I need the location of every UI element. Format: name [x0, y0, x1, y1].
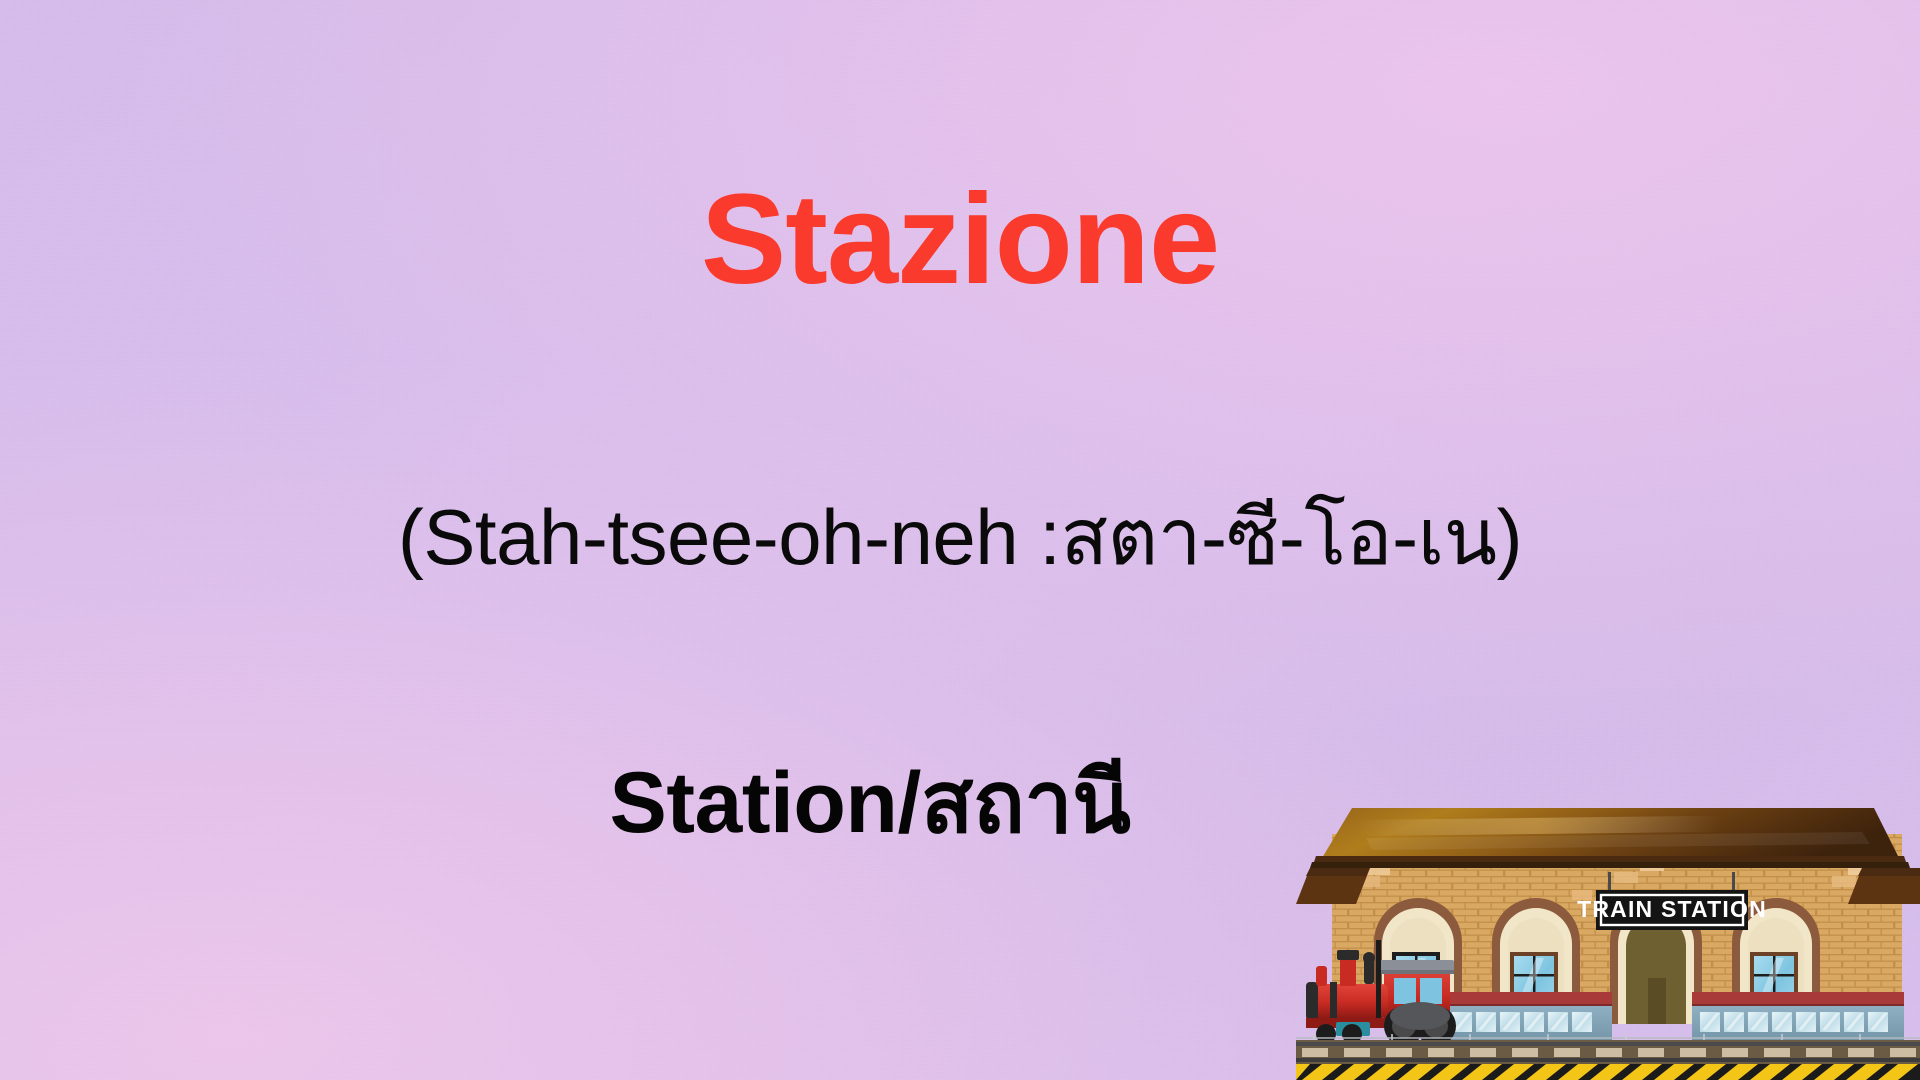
rail-bottom: [1296, 1058, 1920, 1062]
pronunciation-line: (Stah-tsee-oh-neh :สตา-ซี-โอ-เน): [0, 497, 1920, 579]
station-roof-eave-lip: [1310, 862, 1910, 868]
rail-top: [1296, 1042, 1920, 1046]
page-title: Stazione: [0, 176, 1920, 304]
carriage-roof-left: [1444, 992, 1612, 1006]
right-eave-shadow: [1858, 868, 1920, 876]
train-station-illustration: TRAIN STATION: [1296, 772, 1920, 1080]
train-station-sign-text: TRAIN STATION: [1577, 896, 1767, 922]
left-eave-shadow: [1306, 868, 1370, 876]
sleepers: [1302, 1048, 1916, 1057]
carriage-roof-right: [1692, 992, 1904, 1006]
slide-canvas: Stazione (Stah-tsee-oh-neh :สตา-ซี-โอ-เน…: [0, 0, 1920, 1080]
